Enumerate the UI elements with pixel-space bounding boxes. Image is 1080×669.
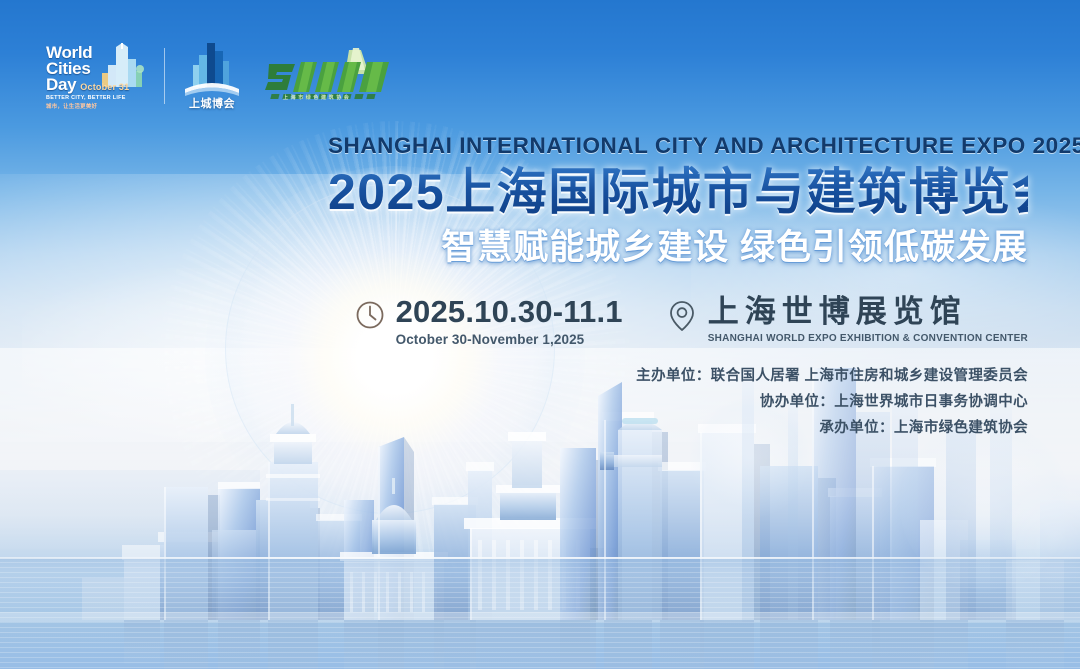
lens-flare-dot-2 (900, 420, 1070, 590)
date-venue-row: 2025.10.30-11.1 October 30-November 1,20… (355, 296, 1028, 347)
date-text-block: 2025.10.30-11.1 October 30-November 1,20… (396, 296, 623, 347)
venue-text-block: 上海世博展览馆 SHANGHAI WORLD EXPO EXHIBITION &… (708, 296, 1028, 344)
title-chinese: 2025上海国际城市与建筑博览会 (328, 165, 1028, 219)
date-item: 2025.10.30-11.1 October 30-November 1,20… (355, 296, 623, 347)
water-ripples (0, 557, 1080, 669)
organizer-line-undertaker: 承办单位：上海市绿色建筑协会 (636, 416, 1028, 442)
organizer-line-host: 主办单位：联合国人居署 上海市住房和城乡建设管理委员会 (636, 364, 1028, 390)
organizer-block: 主办单位：联合国人居署 上海市住房和城乡建设管理委员会 协办单位：上海世界城市日… (636, 364, 1028, 441)
city-expo-logo[interactable]: 上城博会 (181, 41, 243, 111)
subtitle-chinese: 智慧赋能城乡建设 绿色引领低碳发展 (328, 228, 1028, 267)
date-primary: 2025.10.30-11.1 (396, 296, 623, 329)
wcd-line-day: Day (46, 77, 76, 93)
lens-flare-dot-3 (1000, 480, 1080, 590)
logo-bar: World Cities Day October 31 BETTER CITY,… (44, 40, 397, 112)
scuc-logo[interactable]: 上海市绿色建筑协会 (265, 48, 397, 104)
wcd-wordmark: World Cities Day October 31 (46, 45, 131, 92)
headline-block: SHANGHAI INTERNATIONAL CITY AND ARCHITEC… (328, 134, 1028, 267)
organizer-line-coorganizer: 协办单位：上海世界城市日事务协调中心 (636, 390, 1028, 416)
wcd-subtitle-cn: 城市，让生活更美好 (46, 102, 97, 110)
location-pin-icon (667, 300, 697, 332)
wcd-october-badge: October 31 (78, 83, 131, 91)
venue-item: 上海世博展览馆 SHANGHAI WORLD EXPO EXHIBITION &… (667, 296, 1028, 344)
clock-icon (355, 300, 385, 330)
city-expo-building-icon (181, 41, 243, 99)
expo-poster: World Cities Day October 31 BETTER CITY,… (0, 0, 1080, 669)
logo-divider (164, 48, 165, 104)
shoreline-edge (0, 557, 1080, 559)
wcd-subtitle-en: BETTER CITY, BETTER LIFE (46, 95, 126, 101)
water-surface (0, 557, 1080, 669)
venue-secondary: SHANGHAI WORLD EXPO EXHIBITION & CONVENT… (708, 333, 1028, 344)
scuc-subtitle: 上海市绿色建筑协会 (283, 94, 351, 101)
title-english: SHANGHAI INTERNATIONAL CITY AND ARCHITEC… (328, 134, 1028, 159)
world-cities-day-logo[interactable]: World Cities Day October 31 BETTER CITY,… (44, 43, 148, 109)
city-expo-label: 上城博会 (181, 95, 243, 111)
venue-primary: 上海世博展览馆 (708, 296, 1028, 329)
date-secondary: October 30-November 1,2025 (396, 332, 623, 347)
